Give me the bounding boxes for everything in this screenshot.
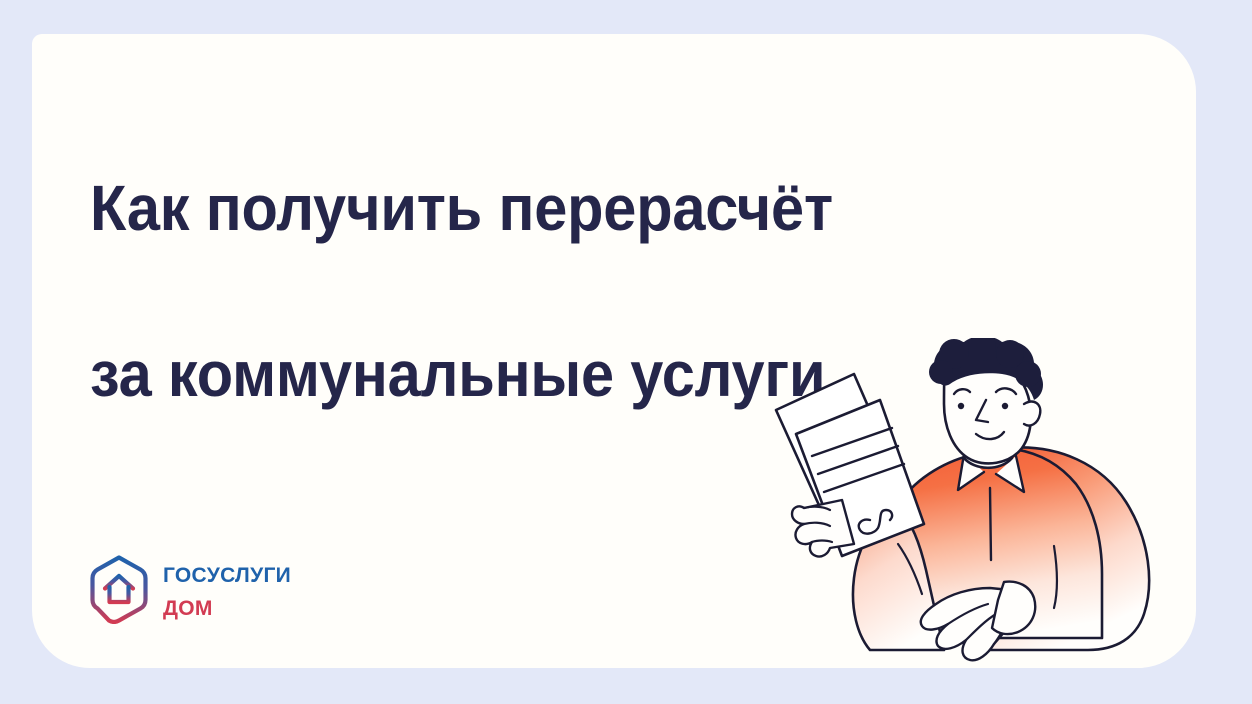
brand-name-secondary: ДОМ (163, 591, 291, 621)
content-card: Как получить перерасчёт за коммунальные … (32, 34, 1196, 668)
house-hexagon-icon (88, 554, 150, 624)
page-title-line-1: Как получить перерасчёт (90, 167, 871, 250)
head (929, 338, 1043, 463)
hero-illustration (758, 338, 1178, 668)
illustration-group (776, 338, 1149, 660)
page-title-line-2: за коммунальные услуги (90, 333, 871, 416)
brand-name-primary: ГОСУСЛУГИ (163, 558, 291, 588)
page-title: Как получить перерасчёт за коммунальные … (90, 84, 871, 499)
slide-canvas: Как получить перерасчёт за коммунальные … (0, 0, 1252, 704)
brand-wordmark: ГОСУСЛУГИ ДОМ (163, 558, 291, 621)
brand-logo[interactable]: ГОСУСЛУГИ ДОМ (88, 554, 291, 624)
